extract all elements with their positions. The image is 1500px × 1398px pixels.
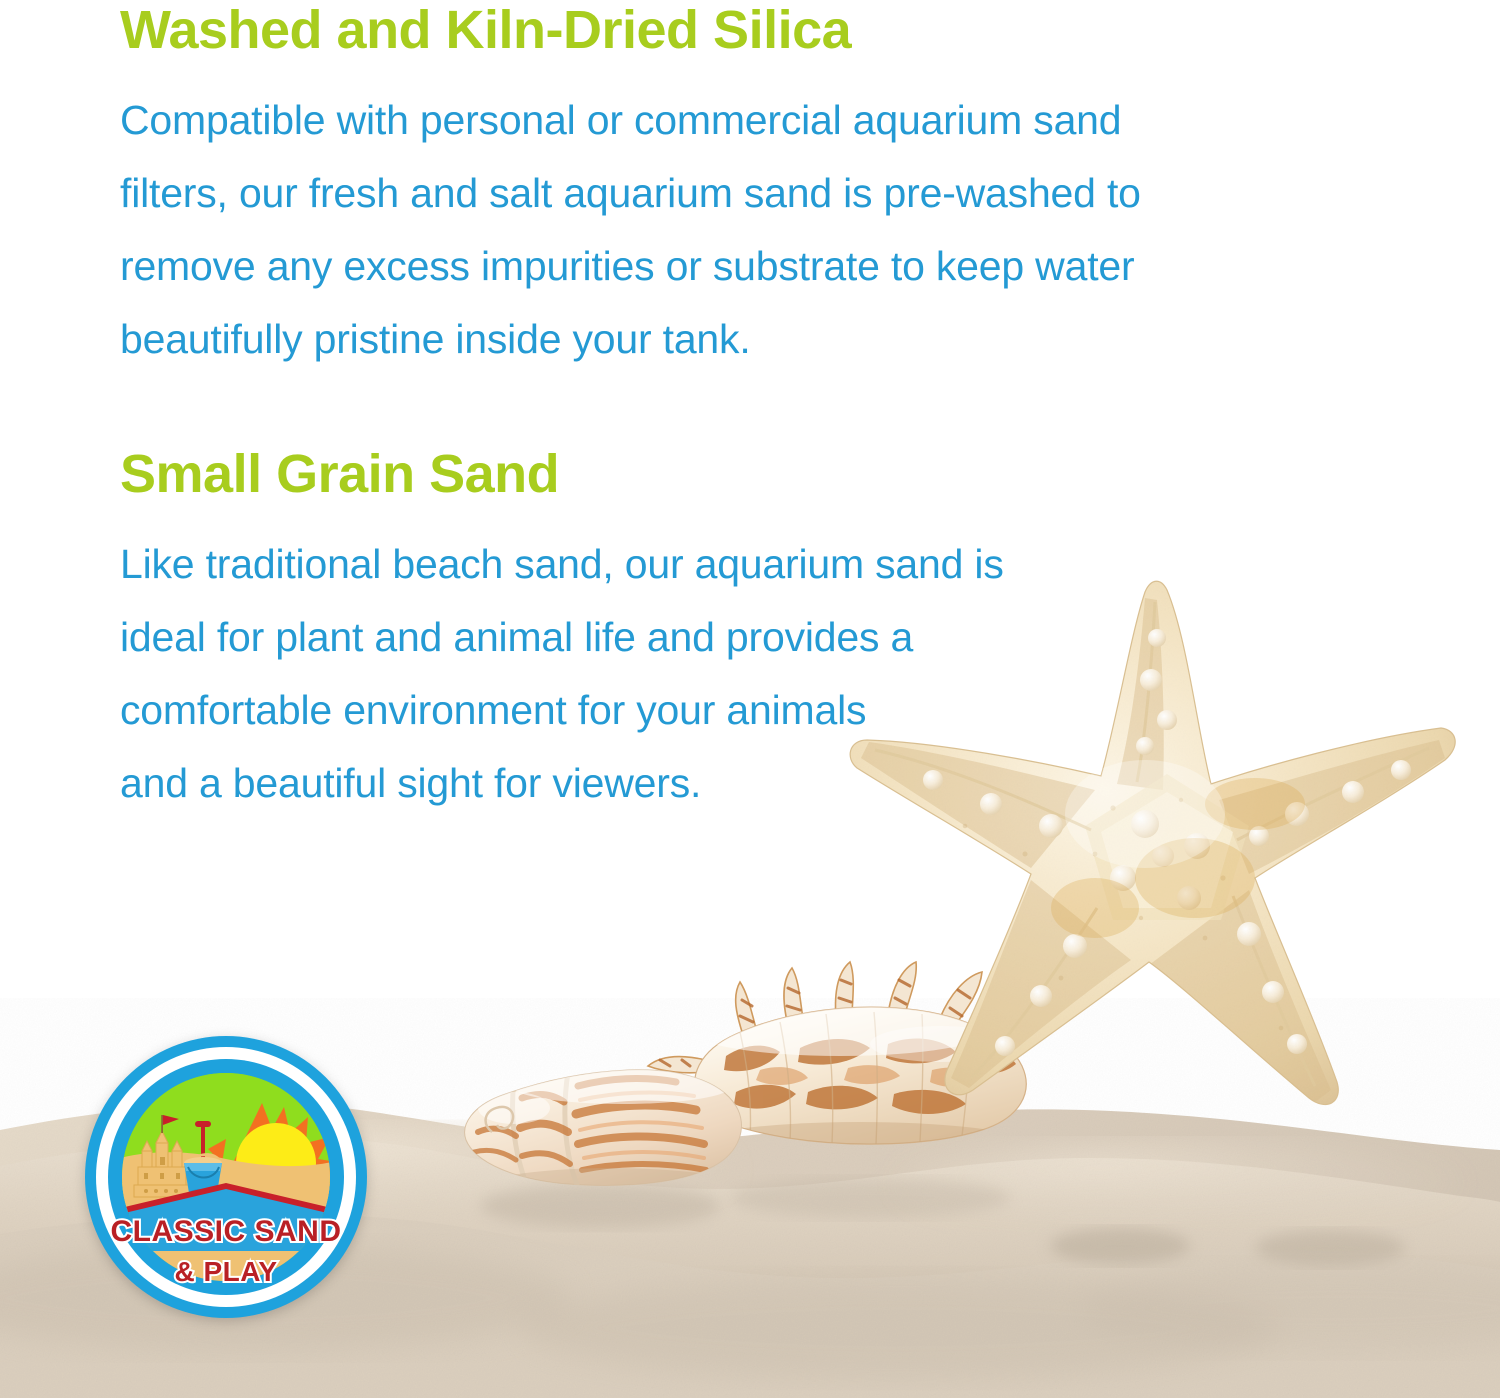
section-2-heading: Small Grain Sand [120, 446, 1380, 502]
logo-brand-line-1: CLASSIC SAND [110, 1215, 341, 1248]
section-1-paragraph: Compatible with personal or commercial a… [120, 84, 1380, 376]
paragraph-line: filters, our fresh and salt aquarium san… [120, 157, 1380, 230]
paragraph-line: comfortable environment for your animals [120, 674, 1380, 747]
logo-brand-line-2: & PLAY [174, 1256, 277, 1287]
product-feature-panel: Washed and Kiln-Dried Silica Compatible … [0, 0, 1500, 1398]
section-1-heading: Washed and Kiln-Dried Silica [120, 2, 1380, 58]
copy-column: Washed and Kiln-Dried Silica Compatible … [120, 0, 1380, 820]
feature-block-small-grain: Small Grain Sand Like traditional beach … [120, 446, 1380, 820]
brand-logo[interactable]: CLASSIC SAND & PLAY [82, 1033, 370, 1321]
spiral-shell [452, 1036, 752, 1196]
paragraph-line: Compatible with personal or commercial a… [120, 84, 1380, 157]
paragraph-line: remove any excess impurities or substrat… [120, 230, 1380, 303]
paragraph-line: beautifully pristine inside your tank. [120, 303, 1380, 376]
paragraph-line: ideal for plant and animal life and prov… [120, 601, 1380, 674]
paragraph-line: Like traditional beach sand, our aquariu… [120, 528, 1380, 601]
feature-block-washed-silica: Washed and Kiln-Dried Silica Compatible … [120, 2, 1380, 376]
section-spacer [120, 376, 1380, 446]
section-2-paragraph: Like traditional beach sand, our aquariu… [120, 528, 1380, 820]
paragraph-line: and a beautiful sight for viewers. [120, 747, 1380, 820]
